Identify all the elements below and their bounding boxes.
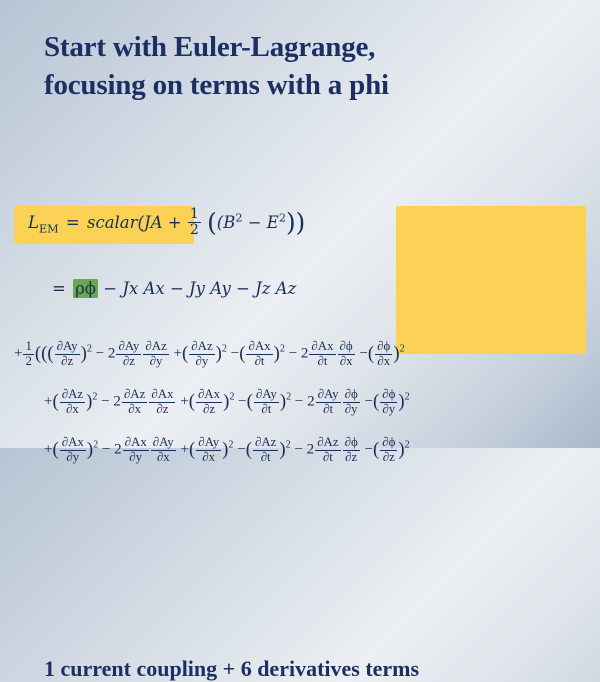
- row1-term5b: ∂ϕ∂x: [338, 340, 355, 368]
- eq1-inner2: E: [267, 213, 279, 232]
- page-title: Start with Euler-Lagrange, focusing on t…: [44, 28, 574, 105]
- row3-term6: ∂ϕ∂z: [380, 436, 397, 464]
- eq1-frac-den: 2: [188, 223, 201, 238]
- eq1-frac-num: 1: [188, 207, 201, 223]
- row1-term4-sign: −: [231, 346, 239, 362]
- row3-term4-sign: −: [237, 442, 245, 458]
- row2-term2b: ∂Ax∂z: [149, 388, 175, 416]
- row1-half-den: 2: [23, 355, 33, 369]
- eq1-inner-sup: 2: [235, 211, 242, 224]
- row2-term6: ∂ϕ∂y: [380, 388, 397, 416]
- row2-term2-coef: − 2: [101, 394, 121, 410]
- row1-term5a: ∂Ax∂t: [309, 340, 335, 368]
- eq1-lhs-sub: EM: [39, 222, 59, 235]
- row1-half-fraction: 12: [23, 340, 33, 368]
- row1-term5-coef: − 2: [289, 346, 309, 362]
- rho-phi-highlight: ρϕ: [73, 279, 98, 298]
- row3-term1: ∂Ax∂y: [60, 436, 86, 464]
- row2-content: +(∂Az∂x)2 − 2∂Az∂x∂Ax∂z +(∂Ax∂z)2 −(∂Ay∂…: [44, 388, 410, 416]
- table-row: +(∂Az∂x)2 − 2∂Az∂x∂Ax∂z +(∂Ax∂z)2 −(∂Ay∂…: [14, 380, 586, 428]
- slide: Start with Euler-Lagrange, focusing on t…: [0, 0, 600, 448]
- eq1-text: scalar(JA +: [87, 213, 182, 232]
- eq1-open-paren: (: [207, 208, 217, 237]
- row3-term2-coef: − 2: [102, 442, 122, 458]
- row2-term5b: ∂ϕ∂y: [343, 388, 360, 416]
- footer-summary: 1 current coupling + 6 derivatives terms: [44, 656, 600, 682]
- row3-term5a: ∂Az∂t: [315, 436, 340, 464]
- row1-term1: ∂Ay∂z: [55, 340, 80, 368]
- eq1-lhs: L: [28, 213, 39, 232]
- eq1-inner2-sup: 2: [279, 211, 286, 224]
- title-line-2: focusing on terms with a phi: [44, 66, 574, 104]
- table-row: +12(((∂Ay∂z)2 − 2∂Ay∂z∂Az∂y +(∂Az∂y)2 −(…: [14, 332, 586, 380]
- row2-open: (: [52, 392, 58, 413]
- row1-term2b: ∂Az∂y: [143, 340, 168, 368]
- row3-term5-coef: − 2: [294, 442, 314, 458]
- row2-term3: ∂Ax∂z: [196, 388, 222, 416]
- row3-content: +(∂Ax∂y)2 − 2∂Ax∂y∂Ay∂x +(∂Ay∂x)2 −(∂Az∂…: [44, 436, 410, 464]
- row3-term4: ∂Az∂t: [253, 436, 278, 464]
- eq1-minus: −: [248, 213, 262, 232]
- row3-term3-sign: +: [180, 442, 188, 458]
- row3-term5b: ∂ϕ∂z: [343, 436, 360, 464]
- row1-term2a: ∂Ay∂z: [116, 340, 141, 368]
- row1-term6: ∂ϕ∂x: [375, 340, 392, 368]
- eq1-inner: (B: [217, 213, 236, 232]
- row1-half-num: 1: [23, 340, 33, 355]
- row2-term5a: ∂Ay∂t: [316, 388, 341, 416]
- row1-lead-sign: +: [14, 346, 22, 362]
- row1-term4: ∂Ax∂t: [246, 340, 272, 368]
- row2-term4: ∂Ay∂t: [254, 388, 279, 416]
- table-row: +(∂Ax∂y)2 − 2∂Ax∂y∂Ay∂x +(∂Ay∂x)2 −(∂Az∂…: [14, 428, 586, 476]
- row1-term6-sign: −: [359, 346, 367, 362]
- row3-term3: ∂Ay∂x: [196, 436, 221, 464]
- row2-term4-sign: −: [238, 394, 246, 410]
- row1-term3-sign: +: [174, 346, 182, 362]
- row1-content: +12(((∂Ay∂z)2 − 2∂Ay∂z∂Az∂y +(∂Az∂y)2 −(…: [14, 340, 405, 368]
- title-line-1: Start with Euler-Lagrange,: [44, 31, 375, 63]
- row3-term2a: ∂Ax∂y: [123, 436, 149, 464]
- row1-term3: ∂Az∂y: [189, 340, 214, 368]
- eq2-equals: =: [50, 279, 68, 298]
- row3-term6-sign: −: [365, 442, 373, 458]
- eq1-close-paren: )): [286, 208, 305, 237]
- row3-open: (: [52, 440, 58, 461]
- row3-term2b: ∂Ay∂x: [151, 436, 176, 464]
- row2-term3-sign: +: [180, 394, 188, 410]
- eq1-equals: =: [64, 213, 82, 232]
- eq2-rest: − Jx Ax − Jy Ay − Jz Az: [103, 279, 296, 298]
- row2-term5-coef: − 2: [295, 394, 315, 410]
- row1-open: ((: [35, 344, 48, 365]
- row2-term2a: ∂Az∂x: [122, 388, 147, 416]
- equation-line-2: = ρϕ − Jx Ax − Jy Ay − Jz Az: [50, 279, 600, 298]
- row2-term6-sign: −: [365, 394, 373, 410]
- equation-line-1: LEM = scalar(JA + 1 2 ((B2 − E2)): [28, 208, 600, 239]
- derivative-rows: +12(((∂Ay∂z)2 − 2∂Ay∂z∂Az∂y +(∂Az∂y)2 −(…: [14, 332, 586, 476]
- row1-term2-coef: − 2: [96, 346, 116, 362]
- row1-term1-pow: 2: [87, 344, 92, 355]
- eq1-fraction: 1 2: [188, 207, 201, 238]
- row2-term1: ∂Az∂x: [60, 388, 85, 416]
